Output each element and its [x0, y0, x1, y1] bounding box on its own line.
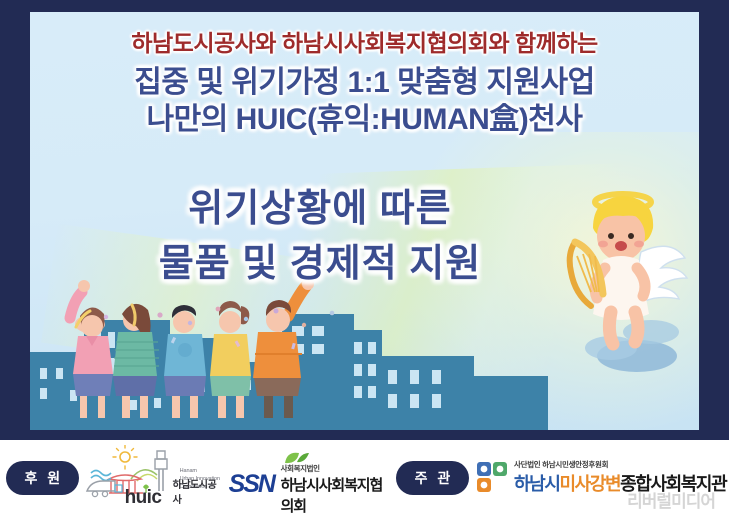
huic-korean-name: 하남도시공사 [173, 476, 225, 506]
confetti-illustration [40, 297, 370, 367]
headline-kicker: 하남도시공사와 하남시사회복지협의회와 함께하는 [30, 30, 699, 58]
huic-wordmark: huic [125, 487, 162, 509]
ssn-corporate-type: 사회복지법인 [281, 463, 320, 474]
watermark-text: 리버럴미디어 [627, 487, 715, 512]
headline-line-2: 나만의 HUIC(휴익:HUMAN盒)천사 [30, 100, 699, 140]
sponsor-badge: 후 원 [6, 461, 80, 495]
poster-root: 하남도시공사와 하남시사회복지협의회와 함께하는 집중 및 위기가정 1:1 맞… [0, 0, 729, 515]
misa-emblem-icon [476, 461, 510, 493]
ssn-wordmark: SSN [229, 470, 274, 499]
ssn-korean-name: 하남시사회복지협의회 [281, 474, 389, 515]
ssn-logo: SSN 사회복지법인 하남시사회복지협의회 [229, 457, 389, 499]
misa-name-part-1: 하남시 [514, 474, 559, 494]
misa-name-part-2: 미사강변 [559, 474, 620, 494]
headline-block: 하남도시공사와 하남시사회복지협의회와 함께하는 집중 및 위기가정 1:1 맞… [30, 12, 699, 140]
headline-line-1: 집중 및 위기가정 1:1 맞춤형 지원사업 [30, 63, 699, 103]
poster-canvas: 하남도시공사와 하남시사회복지협의회와 함께하는 집중 및 위기가정 1:1 맞… [30, 12, 699, 430]
huic-logo: Hanam Urban Innovation Corporation huic … [85, 445, 225, 511]
slogan-block: 위기상황에 따른 물품 및 경제적 지원 [30, 182, 610, 292]
host-badge: 주 관 [396, 461, 470, 495]
misa-corporate-line: 사단법인 하남시민생안정후원회 [514, 459, 608, 470]
slogan-line-1: 위기상황에 따른 [30, 182, 610, 237]
slogan-line-2: 물품 및 경제적 지원 [30, 237, 610, 292]
footer-bar: 후 원 [0, 440, 729, 515]
